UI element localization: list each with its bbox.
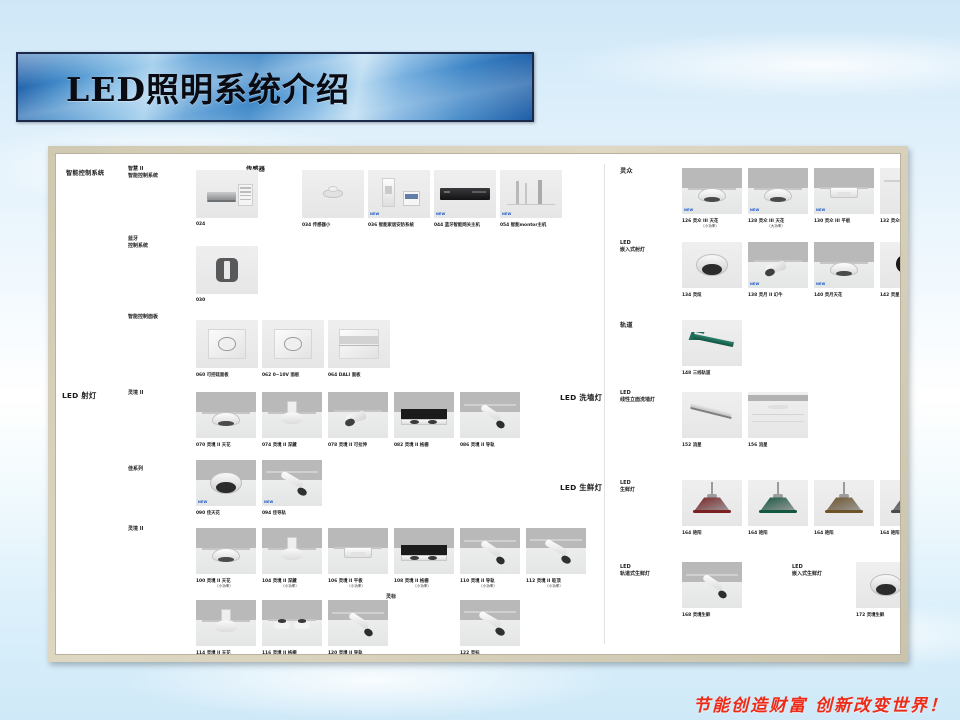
- group-label-bluetooth: 蓝牙控制系统: [128, 236, 148, 250]
- thumb-background-lower: [460, 620, 520, 646]
- product-thumbnail[interactable]: NEW: [368, 170, 430, 218]
- product-caption: 108 灵境 II 格栅（小功率）: [394, 578, 450, 589]
- group-label-lingjing-2b: 灵境 II: [128, 526, 143, 533]
- group-label-lingjing-2: 灵境 II: [128, 390, 143, 397]
- product-thumbnail[interactable]: [682, 242, 742, 288]
- thumb-background-upper: [748, 168, 808, 188]
- product-code: 086: [460, 443, 469, 448]
- product-thumbnail[interactable]: NEW: [434, 170, 496, 218]
- product-code: 172: [856, 613, 865, 618]
- product-caption: 126 灵众 III 天花（小功率）: [682, 218, 738, 229]
- label-line: 智慧 II: [128, 166, 143, 172]
- product-code: 168: [682, 613, 691, 618]
- product-caption: 062 0~10V 面板: [262, 372, 318, 378]
- group-label-wallwash: LED线性立面洗墙灯: [620, 390, 655, 404]
- group-label-jia-series: 佳系列: [128, 466, 143, 473]
- product-code: 062: [262, 373, 271, 378]
- product-caption: 156 流星: [748, 442, 804, 448]
- group-label-fresh-recessed: LED嵌入式生鲜灯: [792, 564, 822, 578]
- product-caption: 110 灵境 II 导轨（小功率）: [460, 578, 516, 589]
- product-name: 蓝牙智能网关主机: [445, 223, 480, 228]
- product-caption: 114 灵境 II 天花（大功率）: [196, 650, 252, 655]
- product-code: 152: [682, 443, 691, 448]
- product-name: 灵境生鲜: [693, 613, 711, 618]
- product-name: 智能montor主机: [511, 223, 547, 228]
- product-caption: 064 DALI 面板: [328, 372, 384, 378]
- product-name: 灵境 II 深藏: [273, 443, 297, 448]
- product-subnote: （大功率）: [748, 224, 804, 229]
- catalog-content: 智能控制系统 智慧 II智能控制系统 蓝牙控制系统 智能控制面板 传感器 LED…: [56, 154, 900, 654]
- product-caption: 164 艳阳: [814, 530, 870, 536]
- product-code: 164: [880, 531, 889, 536]
- product-code: 122: [460, 651, 469, 655]
- product-thumbnail[interactable]: [262, 600, 322, 646]
- slide-slogan: 节能创造财富 创新改变世界！: [693, 691, 948, 716]
- product-name: 灵境 II 天花: [207, 651, 231, 655]
- product-caption: 104 灵境 II 深藏（小功率）: [262, 578, 318, 589]
- product-name: DALI 面板: [339, 373, 361, 378]
- product-name: 灵众COB 导轨: [891, 219, 901, 224]
- product-code: 138: [748, 293, 757, 298]
- thumb-background-upper: [748, 242, 808, 262]
- product-code: 100: [196, 579, 205, 584]
- product-code: 134: [682, 293, 691, 298]
- product-name: 灵境 II 格栅: [273, 651, 297, 655]
- product-name: 灵境 II 可拉伸: [339, 443, 367, 448]
- product-caption: 086 灵境 II 导轨: [460, 442, 516, 448]
- new-badge: NEW: [750, 208, 760, 212]
- thumb-background-upper: [196, 528, 256, 548]
- product-code: 070: [196, 443, 205, 448]
- product-name: 艳阳: [759, 531, 768, 536]
- product-name: 佳天花: [207, 511, 220, 516]
- product-caption: 172 灵境生鲜: [856, 612, 901, 618]
- product-caption: 168 灵境生鲜: [682, 612, 738, 618]
- product-thumbnail[interactable]: [682, 320, 742, 366]
- product-code: 132: [880, 219, 889, 224]
- product-thumbnail[interactable]: [814, 480, 874, 526]
- product-caption: 036 智能家居安防系统: [368, 222, 424, 228]
- product-code: 116: [262, 651, 271, 655]
- product-name: 艳阳: [693, 531, 702, 536]
- product-name: 灵月天花: [825, 293, 843, 298]
- product-subnote: （小功率）: [460, 584, 516, 589]
- product-thumbnail[interactable]: [262, 528, 322, 574]
- product-thumbnail[interactable]: [196, 528, 256, 574]
- product-code: 064: [328, 373, 337, 378]
- product-thumbnail[interactable]: [460, 600, 520, 646]
- product-name: 灵境 II 导轨: [339, 651, 363, 655]
- product-caption: 120 灵境 II 导轨（大功率）: [328, 650, 384, 655]
- product-subnote: （小功率）: [682, 224, 738, 229]
- product-code: 090: [196, 511, 205, 516]
- product-thumbnail[interactable]: [856, 562, 901, 608]
- group-label-lingzhong: 灵众: [620, 166, 633, 175]
- label-line: LED: [792, 564, 803, 570]
- product-thumbnail[interactable]: [196, 320, 258, 368]
- thumb-background-lower: [526, 548, 586, 574]
- label-line: LED: [620, 480, 631, 486]
- product-thumbnail[interactable]: NEW: [814, 168, 874, 214]
- product-caption: 106 灵境 II 平板（小功率）: [328, 578, 384, 589]
- product-caption: 024: [196, 222, 252, 227]
- product-caption: 164 艳阳: [682, 530, 738, 536]
- label-line: 轨道式生鲜灯: [620, 571, 650, 577]
- product-thumbnail[interactable]: NEW: [500, 170, 562, 218]
- product-name: 灵星: [891, 293, 900, 298]
- product-subnote: （小功率）: [328, 584, 384, 589]
- product-thumbnail[interactable]: [302, 170, 364, 218]
- product-name: 艳阳: [825, 531, 834, 536]
- product-code: 164: [748, 531, 757, 536]
- product-thumbnail[interactable]: NEW: [814, 242, 874, 288]
- group-label-fresh-track: LED轨道式生鲜灯: [620, 564, 650, 578]
- thumb-background-upper: [814, 242, 874, 262]
- product-caption: 122 灵标: [460, 650, 516, 655]
- background-cloud-streak: [560, 30, 960, 100]
- product-code: 156: [748, 443, 757, 448]
- product-name: 流星: [693, 443, 702, 448]
- new-badge: NEW: [264, 500, 274, 504]
- product-code: 094: [262, 511, 271, 516]
- product-caption: 074 灵境 II 深藏: [262, 442, 318, 448]
- product-thumbnail[interactable]: [880, 242, 901, 288]
- product-thumbnail[interactable]: [682, 562, 742, 608]
- product-code: 106: [328, 579, 337, 584]
- product-thumbnail[interactable]: NEW: [748, 168, 808, 214]
- product-name: 灵众 III 平板: [825, 219, 851, 224]
- section-title-wallwash: LED 洗墙灯: [560, 392, 602, 403]
- product-subnote: （小功率）: [394, 584, 450, 589]
- product-caption: 078 灵境 II 可拉伸: [328, 442, 384, 448]
- product-name: 灵境 II 导轨: [471, 443, 495, 448]
- product-thumbnail[interactable]: [748, 392, 808, 438]
- product-code: 120: [328, 651, 337, 655]
- section-title-fresh: LED 生鲜灯: [560, 482, 602, 493]
- product-code: 140: [814, 293, 823, 298]
- product-thumbnail[interactable]: [262, 392, 322, 438]
- product-caption: 060 可控硅面板: [196, 372, 252, 378]
- thumb-background-upper: [328, 392, 388, 412]
- product-caption: 142 灵星: [880, 292, 901, 298]
- catalog-sheet-frame: 智能控制系统 智慧 II智能控制系统 蓝牙控制系统 智能控制面板 传感器 LED…: [48, 146, 908, 662]
- thumb-background-upper: [682, 168, 742, 188]
- product-name: 0~10V 面板: [273, 373, 300, 378]
- label-line: 嵌入式生鲜灯: [792, 571, 822, 577]
- product-subnote: （小功率）: [526, 584, 582, 589]
- product-subnote: （小功率）: [262, 584, 318, 589]
- product-thumbnail[interactable]: [328, 320, 390, 368]
- column-divider: [604, 164, 605, 644]
- thumb-background-upper: [328, 528, 388, 548]
- product-thumbnail[interactable]: [880, 480, 901, 526]
- product-thumbnail[interactable]: [394, 528, 454, 574]
- product-name: 灵标: [471, 651, 480, 655]
- label-line: 智能控制系统: [128, 173, 158, 179]
- product-code: 024: [196, 222, 205, 227]
- group-label-recessed-spot: LED嵌入式射灯: [620, 240, 645, 254]
- product-caption: 054 智能montor主机: [500, 222, 556, 228]
- group-label-panel: 智能控制面板: [128, 314, 158, 321]
- product-code: 114: [196, 651, 205, 655]
- product-caption: 090 佳天花: [196, 510, 252, 516]
- product-caption: 082 灵境 II 格栅: [394, 442, 450, 448]
- product-code: 112: [526, 579, 535, 584]
- product-code: 036: [368, 223, 377, 228]
- product-code: 030: [196, 298, 205, 303]
- new-badge: NEW: [684, 208, 694, 212]
- product-caption: 164 艳阳: [880, 530, 901, 536]
- product-caption: 130 灵众 III 平板: [814, 218, 870, 224]
- product-thumbnail[interactable]: [196, 392, 256, 438]
- product-caption: 148 三线轨道: [682, 370, 738, 376]
- new-badge: NEW: [816, 282, 826, 286]
- product-caption: 070 灵境 II 天花: [196, 442, 252, 448]
- product-caption: 128 灵众 III 天花（大功率）: [748, 218, 804, 229]
- product-name: 艳阳: [891, 531, 900, 536]
- product-caption: 134 灵炫: [682, 292, 738, 298]
- product-thumbnail[interactable]: [196, 600, 256, 646]
- product-name: 灵月 II 幻牛: [759, 293, 783, 298]
- product-caption: 112 灵境 II 吸顶（小功率）: [526, 578, 582, 589]
- label-line: LED: [620, 390, 631, 396]
- product-thumbnail[interactable]: [328, 600, 388, 646]
- thumb-background-upper: [196, 392, 256, 412]
- label-line: 生鲜灯: [620, 487, 635, 493]
- product-code: 034: [302, 223, 311, 228]
- product-name: 灵境 II 格栅: [405, 443, 429, 448]
- product-name: 灵境 II 天花: [207, 443, 231, 448]
- thumb-background-upper: [814, 168, 874, 188]
- product-thumbnail[interactable]: [460, 528, 520, 574]
- product-name: 流星: [759, 443, 768, 448]
- product-caption: 138 灵月 II 幻牛: [748, 292, 804, 298]
- product-caption: 044 蓝牙智能网关主机: [434, 222, 490, 228]
- new-badge: NEW: [370, 212, 380, 216]
- thumb-background-upper: [262, 600, 322, 620]
- group-label-zhihui: 智慧 II智能控制系统: [128, 166, 158, 180]
- product-code: 078: [328, 443, 337, 448]
- product-thumbnail[interactable]: NEW: [682, 168, 742, 214]
- product-code: 108: [394, 579, 403, 584]
- product-caption: 140 灵月天花: [814, 292, 870, 298]
- product-code: 126: [682, 219, 691, 224]
- section-title-smart-control: 智能控制系统: [66, 168, 104, 177]
- new-badge: NEW: [198, 500, 208, 504]
- label-line: 嵌入式射灯: [620, 247, 645, 253]
- new-badge: NEW: [436, 212, 446, 216]
- label-line: 智能控制面板: [128, 314, 158, 320]
- product-code: 054: [500, 223, 509, 228]
- product-name: 佳导轨: [273, 511, 286, 516]
- product-caption: 034 传感器小: [302, 222, 358, 228]
- product-code: 082: [394, 443, 403, 448]
- product-name: 可控硅面板: [207, 373, 229, 378]
- product-code: 060: [196, 373, 205, 378]
- product-thumbnail[interactable]: [460, 392, 520, 438]
- product-name: 三线轨道: [693, 371, 711, 376]
- slide-title-banner: LED照明系统介绍: [16, 52, 534, 122]
- product-name: 灵境生鲜: [867, 613, 885, 618]
- product-thumbnail[interactable]: [880, 168, 901, 214]
- product-thumbnail[interactable]: [526, 528, 586, 574]
- product-code: 164: [682, 531, 691, 536]
- group-label-fresh: LED生鲜灯: [620, 480, 635, 494]
- product-code: 044: [434, 223, 443, 228]
- section-title-spotlight: LED 射灯: [62, 390, 96, 401]
- label-line: LED: [620, 564, 631, 570]
- product-caption: 164 艳阳: [748, 530, 804, 536]
- product-name: 灵炫: [693, 293, 702, 298]
- product-name: 智能家居安防系统: [379, 223, 414, 228]
- product-code: 074: [262, 443, 271, 448]
- product-code: 164: [814, 531, 823, 536]
- product-caption: 132 灵众COB 导轨: [880, 218, 901, 224]
- label-line: LED: [620, 240, 631, 246]
- product-caption: 116 灵境 II 格栅（大功率）: [262, 650, 318, 655]
- product-code: 148: [682, 371, 691, 376]
- product-thumbnail[interactable]: [328, 392, 388, 438]
- group-label-track: 轨道: [620, 320, 633, 329]
- product-thumbnail[interactable]: [394, 392, 454, 438]
- catalog-sheet: 智能控制系统 智慧 II智能控制系统 蓝牙控制系统 智能控制面板 传感器 LED…: [55, 153, 901, 655]
- label-line: 线性立面洗墙灯: [620, 397, 655, 403]
- product-thumbnail[interactable]: [682, 480, 742, 526]
- label-line: 控制系统: [128, 243, 148, 249]
- new-badge: NEW: [816, 208, 826, 212]
- product-code: 128: [748, 219, 757, 224]
- new-badge: NEW: [750, 282, 760, 286]
- product-thumbnail[interactable]: [328, 528, 388, 574]
- product-code: 104: [262, 579, 271, 584]
- label-line: 蓝牙: [128, 236, 138, 242]
- product-thumbnail[interactable]: [682, 392, 742, 438]
- product-caption: 100 灵境 II 天花（小功率）: [196, 578, 252, 589]
- product-code: 142: [880, 293, 889, 298]
- product-code: 110: [460, 579, 469, 584]
- product-thumbnail[interactable]: [748, 480, 808, 526]
- product-caption: 030: [196, 298, 252, 303]
- new-badge: NEW: [502, 212, 512, 216]
- product-subnote: （小功率）: [196, 584, 252, 589]
- product-thumbnail[interactable]: [196, 170, 258, 218]
- product-name: 传感器小: [313, 223, 331, 228]
- page-title: LED照明系统介绍: [66, 63, 350, 111]
- product-thumbnail[interactable]: [196, 246, 258, 294]
- thumb-background-lower: [262, 620, 322, 646]
- product-code: 130: [814, 219, 823, 224]
- product-caption: 094 佳导轨: [262, 510, 318, 516]
- product-thumbnail[interactable]: NEW: [748, 242, 808, 288]
- product-caption: 152 流星: [682, 442, 738, 448]
- product-thumbnail[interactable]: NEW: [262, 460, 322, 506]
- product-thumbnail[interactable]: NEW: [196, 460, 256, 506]
- product-thumbnail[interactable]: [262, 320, 324, 368]
